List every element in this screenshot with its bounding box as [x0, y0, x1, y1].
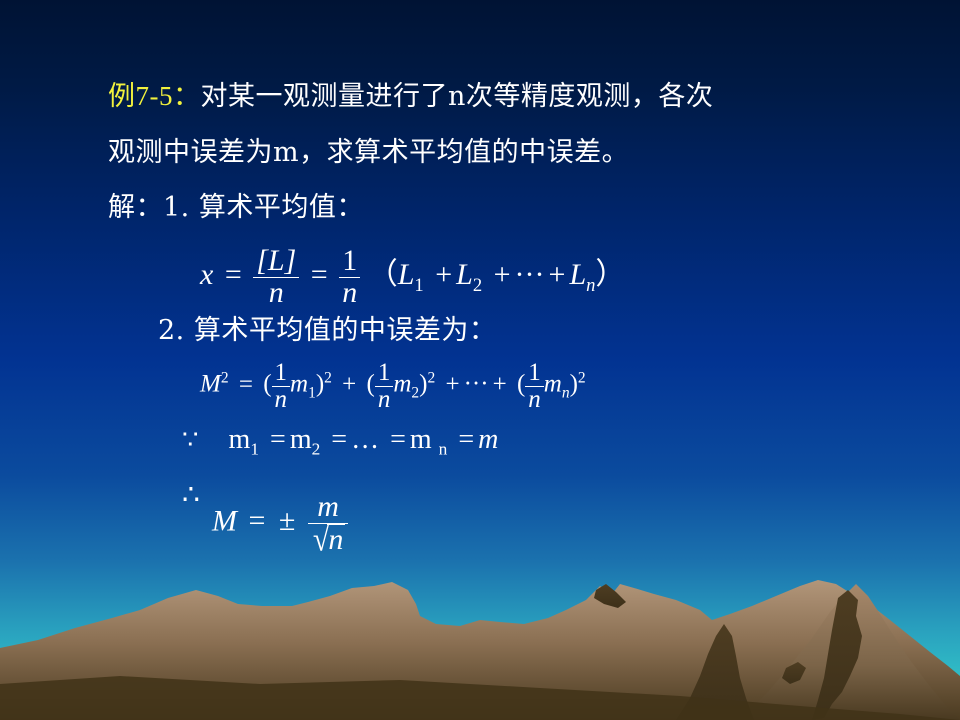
formula2-plus-2: +	[441, 371, 463, 398]
formula2-frac1-denominator: n	[272, 386, 291, 413]
formula3-m2-subscript: 2	[312, 440, 321, 459]
formula2-open-paren-2: (	[367, 371, 375, 398]
formula2-frac2-denominator: n	[375, 386, 394, 413]
formula2-open-paren-3: (	[517, 371, 525, 398]
formula1-ellipsis: ···	[515, 258, 545, 291]
formula2-power-3: 2	[578, 369, 586, 386]
formula4-lhs: M	[212, 504, 237, 537]
solution-step1-heading: 解：1. 算术平均值：	[108, 185, 364, 224]
formula2-lhs-power: 2	[221, 369, 229, 386]
formula1-open-paren: （	[368, 258, 398, 291]
formula2-mn: m	[544, 371, 562, 398]
slide-content: 例7-5：对某一观测量进行了n次等精度观测，各次 观测中误差为m，求算术平均值的…	[0, 0, 960, 720]
formula2-fraction-1: 1n	[272, 360, 291, 412]
formula1-lhs: x	[200, 258, 213, 291]
example-title-rest: 对某一观测量进行了n次等精度观测，各次	[201, 81, 714, 112]
formula2-m2: m	[393, 371, 411, 398]
formula-equal-errors-premise: ∵m1 =m2 =… =m n =m	[182, 424, 498, 460]
formula3-mn: m	[410, 424, 432, 455]
formula2-plus-3: +	[489, 371, 511, 398]
formula2-open-paren-1: (	[263, 371, 271, 398]
formula2-plus-1: +	[338, 371, 360, 398]
formula1-term1: L	[398, 258, 415, 291]
formula2-close-paren-3: )	[570, 371, 578, 398]
formula2-close-paren-1: )	[316, 371, 324, 398]
formula4-numerator: m	[308, 492, 348, 523]
formula3-result: m	[478, 424, 498, 455]
formula1-frac1-denominator: n	[253, 277, 299, 309]
formula1-plus-1: +	[431, 258, 456, 291]
formula1-fraction-one-over-n: 1 n	[339, 246, 360, 308]
formula2-ellipsis: ···	[464, 371, 489, 398]
formula3-mn-subscript: n	[439, 440, 448, 459]
formula2-frac3-numerator: 1	[525, 360, 544, 386]
formula4-fraction-m-over-sqrt-n: m √n	[308, 492, 348, 555]
formula2-fraction-2: 1n	[375, 360, 394, 412]
formula1-plus-3: +	[545, 258, 570, 291]
formula2-mn-subscript: n	[562, 385, 570, 402]
formula1-plus-2: +	[490, 258, 515, 291]
formula1-term1-subscript: 1	[414, 275, 423, 296]
formula3-m1-subscript: 1	[250, 440, 259, 459]
radical-sign: √	[313, 522, 329, 557]
example-title-line: 例7-5：对某一观测量进行了n次等精度观测，各次	[108, 74, 713, 113]
formula2-frac2-numerator: 1	[375, 360, 394, 386]
formula3-equals-2: =	[327, 424, 351, 455]
formula3-equals-1: =	[266, 424, 290, 455]
therefore-icon: ∴	[182, 478, 200, 512]
slide-canvas: 例7-5：对某一观测量进行了n次等精度观测，各次 观测中误差为m，求算术平均值的…	[0, 0, 960, 720]
formula-arithmetic-mean: x = [L] n = 1 n （L1 +L2 +···+Ln）	[200, 246, 625, 308]
formula-mean-squared-error: M2 = (1nm1)2 + (1nm2)2 +···+ (1nmn)2	[200, 360, 586, 412]
example-label: 例7-5：	[108, 81, 201, 111]
formula-final-mean-error: M = ± m √n	[212, 492, 348, 555]
formula3-m1: m	[229, 424, 251, 455]
formula4-plus-minus: ±	[277, 504, 300, 537]
formula1-frac1-numerator: [L]	[253, 246, 299, 277]
formula1-frac2-denominator: n	[339, 277, 360, 309]
formula1-term2: L	[456, 258, 473, 291]
formula3-ellipsis: …	[351, 424, 379, 455]
formula2-frac1-numerator: 1	[272, 360, 291, 386]
formula2-m1: m	[290, 371, 308, 398]
formula1-equals-2: =	[307, 258, 332, 291]
sqrt-icon: √n	[311, 524, 345, 556]
formula1-fraction-bracketL-over-n: [L] n	[253, 246, 299, 308]
formula1-close-paren: ）	[595, 258, 625, 291]
formula2-fraction-3: 1n	[525, 360, 544, 412]
formula2-lhs: M	[200, 371, 221, 398]
formula3-m2: m	[290, 424, 312, 455]
formula4-radicand: n	[327, 524, 345, 556]
formula2-frac3-denominator: n	[525, 386, 544, 413]
formula2-power-2: 2	[427, 369, 435, 386]
formula4-denominator: √n	[308, 523, 348, 556]
formula3-equals-4: =	[454, 424, 478, 455]
formula2-equals: =	[235, 371, 257, 398]
formula1-term3: L	[569, 258, 586, 291]
formula2-m2-subscript: 2	[411, 385, 419, 402]
formula3-equals-3: =	[386, 424, 410, 455]
formula1-term2-subscript: 2	[473, 275, 482, 296]
formula4-equals: =	[245, 504, 270, 537]
solution-step2-heading: 2. 算术平均值的中误差为：	[158, 308, 496, 347]
formula2-m1-subscript: 1	[308, 385, 316, 402]
example-title-line2: 观测中误差为m，求算术平均值的中误差。	[108, 130, 629, 169]
because-icon: ∵	[182, 425, 199, 454]
formula2-power-1: 2	[324, 369, 332, 386]
formula1-equals-1: =	[221, 258, 246, 291]
formula1-frac2-numerator: 1	[339, 246, 360, 277]
